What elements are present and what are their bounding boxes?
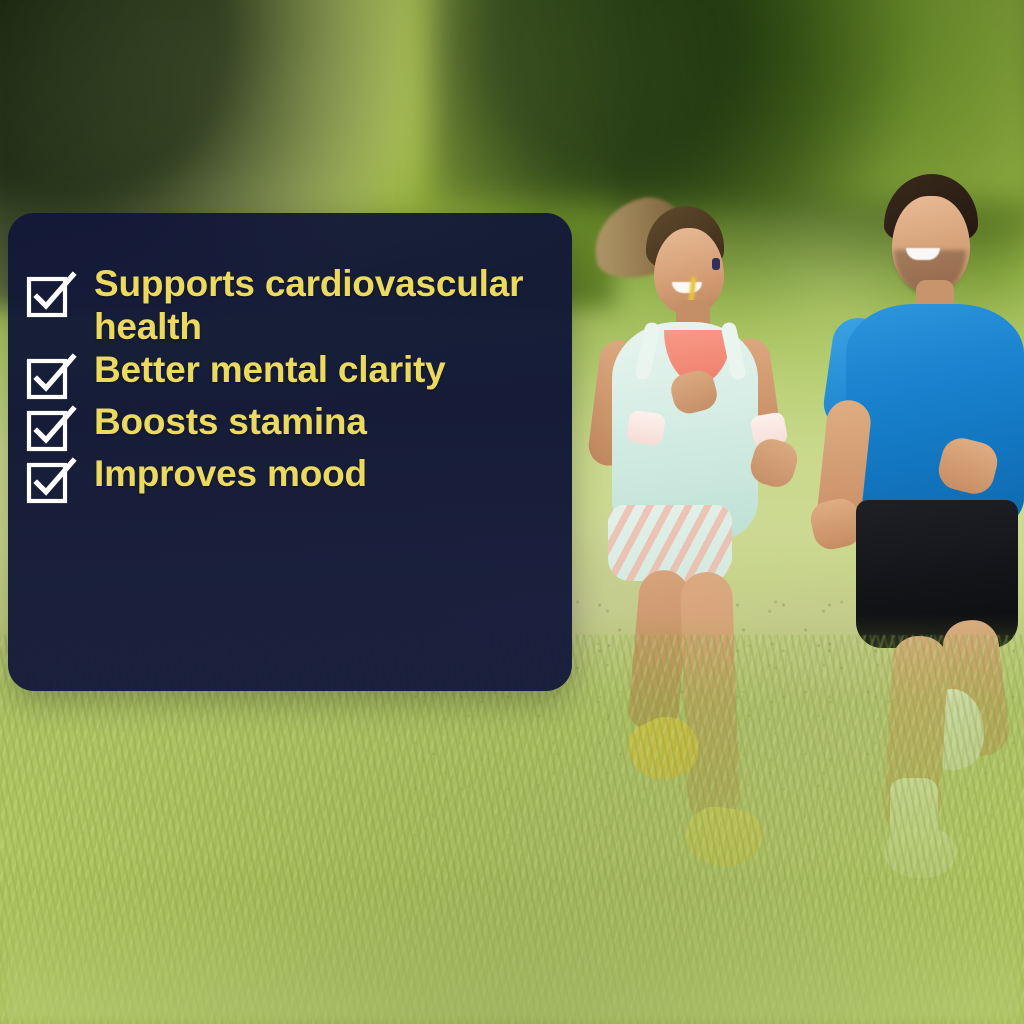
promo-canvas: Supports cardiovascular health Better me… bbox=[0, 0, 1024, 1024]
benefit-item-stamina: Boosts stamina bbox=[18, 401, 546, 453]
benefit-label: Improves mood bbox=[94, 453, 367, 496]
checkbox-checked-icon bbox=[26, 459, 76, 505]
checkbox-checked-icon bbox=[26, 273, 76, 319]
benefits-list: Supports cardiovascular health Better me… bbox=[8, 213, 572, 691]
benefit-item-mood: Improves mood bbox=[18, 453, 546, 505]
woman-shorts bbox=[608, 505, 732, 581]
benefit-label: Better mental clarity bbox=[94, 349, 446, 392]
woman-wristband-left bbox=[626, 410, 666, 447]
benefit-label: Boosts stamina bbox=[94, 401, 367, 444]
benefits-card: Supports cardiovascular health Better me… bbox=[8, 213, 572, 691]
benefit-label: Supports cardiovascular health bbox=[94, 263, 546, 349]
man-shirt bbox=[846, 304, 1024, 530]
woman-earbud bbox=[712, 258, 720, 270]
checkbox-checked-icon bbox=[26, 407, 76, 453]
photo-grass-depth-of-field bbox=[0, 881, 1024, 1024]
benefit-item-clarity: Better mental clarity bbox=[18, 349, 546, 401]
benefit-item-cardio: Supports cardiovascular health bbox=[18, 267, 546, 349]
checkbox-checked-icon bbox=[26, 355, 76, 401]
